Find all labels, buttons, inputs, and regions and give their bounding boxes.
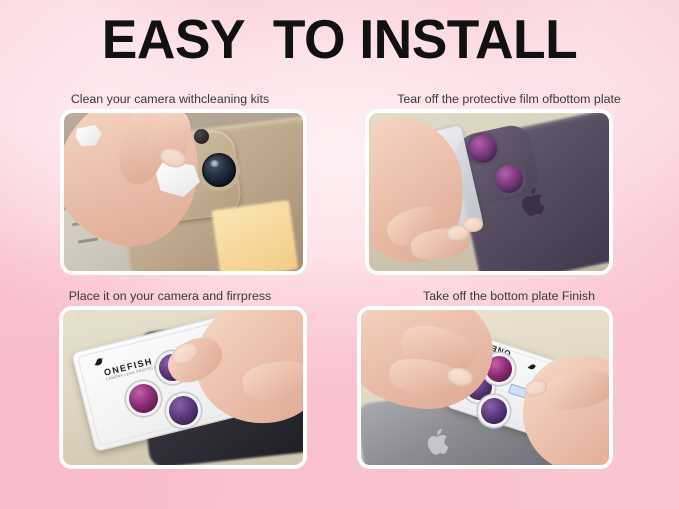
page-title: EASY TO INSTALL bbox=[10, 8, 669, 70]
step-4-caption: Take off the bottom plate Finish bbox=[339, 289, 679, 303]
lens-ring bbox=[169, 396, 198, 425]
step-1-scene bbox=[64, 113, 303, 271]
infographic-poster: EASY TO INSTALL Clean your camera withcl… bbox=[0, 0, 679, 509]
step-3-caption: Place it on your camera and firrpress bbox=[0, 289, 340, 303]
step-4-photo: ONEFISH bbox=[361, 310, 609, 465]
step-1-caption: Clean your camera withcleaning kits bbox=[0, 92, 340, 106]
flash-sensor bbox=[194, 129, 209, 144]
apple-logo-icon bbox=[425, 427, 454, 458]
lens-ring bbox=[481, 398, 507, 424]
step-2-scene: ONEFISH bbox=[369, 113, 609, 271]
step-3-scene: ONEFISH CAMERA LENS PROTECTOR bbox=[63, 310, 303, 465]
purple-lens-ring bbox=[495, 165, 523, 193]
step-2-caption: Tear off the protective film ofbottom pl… bbox=[339, 92, 679, 106]
step-1-photo bbox=[64, 113, 303, 271]
desk-lamp-glow bbox=[212, 200, 299, 271]
step-4-scene: ONEFISH bbox=[361, 310, 609, 465]
purple-lens-ring bbox=[469, 135, 497, 163]
lens-glint bbox=[210, 160, 219, 167]
lens-ring bbox=[129, 384, 158, 413]
step-3-photo: ONEFISH CAMERA LENS PROTECTOR bbox=[63, 310, 303, 465]
apple-logo-icon bbox=[518, 184, 552, 219]
step-2-photo: ONEFISH bbox=[369, 113, 609, 271]
camera-lens bbox=[202, 153, 236, 187]
